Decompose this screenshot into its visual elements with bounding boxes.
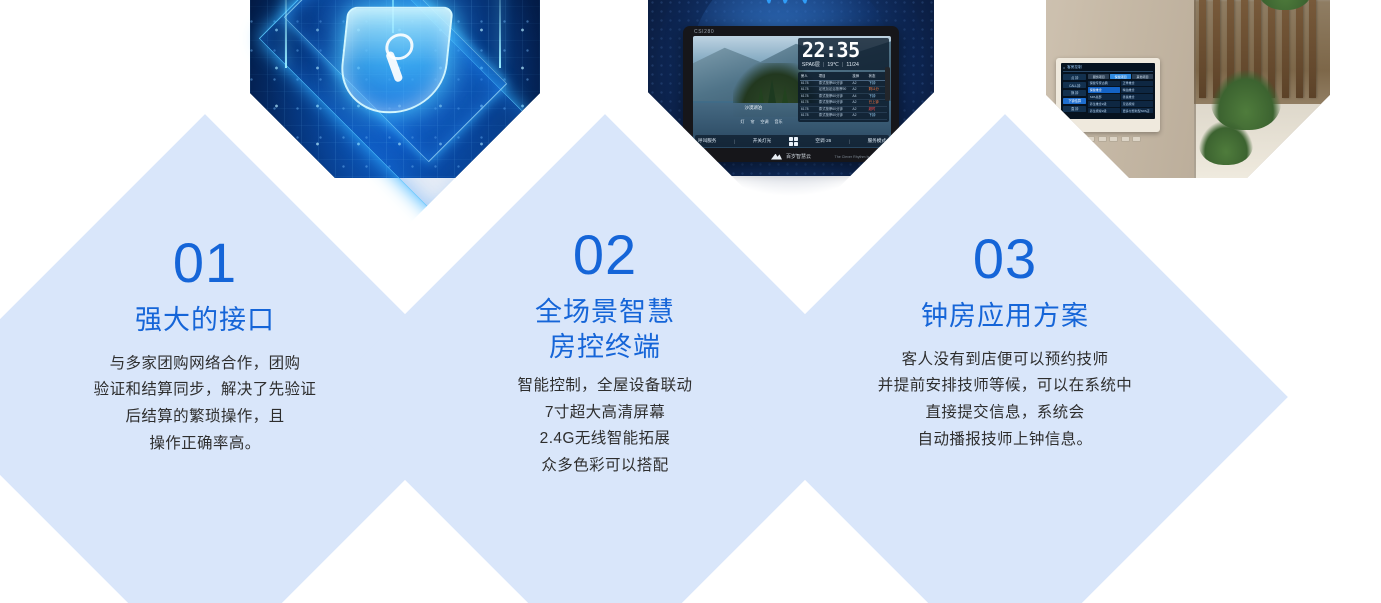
card-description-03: 客人没有到店便可以预约技师 并提前安排技师等候，可以在系统中 直接提交信息，系统… [878,347,1132,454]
menu-item[interactable]: 香薰推拿 [1121,94,1153,100]
panel-tab-service[interactable]: 服务项目 [1088,74,1109,79]
toolbar-divider-icon: | [849,139,850,144]
cell-tech: A2 [852,113,866,118]
feature-diamond-showcase: 01 强大的接口 与多家团购网络合作，团购 验证和结算同步，解决了先验证 后结算… [0,0,1381,603]
clock-temperature: 19℃ [827,62,839,68]
clock-location: SPA6层 [802,61,820,68]
menu-item-selected[interactable]: 保健推拿 [1088,87,1120,93]
tablet-scene: CSI280 沙漠湖泊 灯 帘 空调 音乐 [648,0,934,176]
card-title-03: 钟房应用方案 [921,299,1089,334]
wall-panel-title: ⌂ 客房控制 [1063,65,1153,72]
card-desc-line: 2.4G无线智能拓展 [518,426,693,453]
menu-item[interactable]: SPA总部 [1088,94,1120,100]
cell-status: 下钟 [869,81,886,86]
clock-widget: 22:35 SPA6层 | 19℃ | 11/24 [798,38,889,70]
card-desc-line: 直接提交信息，系统会 [878,400,1132,427]
service-status-table[interactable]: 房人 项目 技师 状态 6178 泰式按摩60分钟 A2 下钟 [798,72,889,122]
menu-item[interactable]: 养生推拿2级 [1088,101,1120,107]
card-desc-line: 智能控制，全屋设备联动 [518,373,693,400]
cell-status: 已上钟 [869,100,886,105]
cell-status: 超时 [869,107,886,112]
menu-item[interactable]: 精油推拿 [1121,87,1153,93]
shield-scene: 蓝色科技电路板与发光盾牌锁图形 [250,0,540,178]
card-number-01: 01 [173,235,237,291]
hardware-button[interactable] [1086,136,1095,142]
menu-item[interactable]: 养生按摩2级 [1088,108,1120,114]
side-btn-zhizhong[interactable]: 直 钟 [1063,105,1086,111]
col-tech: 技师 [852,74,866,79]
card-desc-line: 验证和结算同步，解决了先验证 [94,377,317,404]
apps-grid-icon[interactable] [789,137,798,146]
panel-tab-other[interactable]: 其他项目 [1132,74,1153,79]
cell-room: 6178 [801,87,817,92]
wall-panel-body: 点 钟 CALL钟 换 钟 下钟结算 直 钟 服务项目 保健项目 其他项目 [1063,72,1153,117]
tab-ac[interactable]: 空调·26 [815,138,831,144]
hardware-button[interactable] [1132,136,1141,142]
room-scene: ⌂ 客房控制 点 钟 CALL钟 换 钟 下钟结算 直 钟 [1046,0,1330,178]
wall-panel-menu-grid[interactable]: 保健专家古典 正骨推拿 保健推拿 精油推拿 SPA总部 香薰推拿 养生推拿2级 … [1088,81,1153,114]
card-desc-line: 自动播报技师上钟信息。 [878,427,1132,454]
cell-tech: A4 [852,94,866,99]
clock-date: 11/24 [846,62,859,68]
cell-item: 泰式按摩60分钟 [819,107,851,112]
side-btn-huanzhong[interactable]: 换 钟 [1063,90,1086,96]
side-btn-dianzhong[interactable]: 点 钟 [1063,74,1086,80]
room-control-tablet[interactable]: CSI280 沙漠湖泊 灯 帘 空调 音乐 [683,26,899,162]
side-btn-settle[interactable]: 下钟结算 [1063,98,1086,104]
toolbar-divider-icon: | [734,139,735,144]
cell-item: 泰式按摩60分钟 [819,113,851,118]
card-desc-line: 并提前安排技师等候，可以在系统中 [878,373,1132,400]
hardware-button[interactable] [1098,136,1107,142]
quick-icon-light[interactable]: 灯 [741,119,745,125]
cell-status: 剩11分 [869,87,886,92]
menu-item[interactable]: 正骨推拿 [1121,81,1153,87]
scene-label: 沙漠湖泊 [744,105,762,111]
quick-icon-curtain[interactable]: 帘 [751,119,755,125]
cell-room: 6178 [801,94,817,99]
tablet-footer: 百岁智慧云 The Clever Rhythm Is The Fulness [683,153,899,160]
card-title-line: 全场景智慧 [535,295,675,330]
card-title-02: 全场景智慧 房控终端 [535,295,675,364]
tablet-side-button[interactable] [885,67,890,101]
wall-panel-hardware-buttons[interactable] [1059,136,1157,142]
card-desc-line: 众多色彩可以搭配 [518,453,693,480]
quick-icon-music[interactable]: 音乐 [775,119,783,125]
wall-panel-screen[interactable]: ⌂ 客房控制 点 钟 CALL钟 换 钟 下钟结算 直 钟 [1061,63,1155,119]
cell-tech: A2 [852,81,866,86]
hardware-button[interactable] [1075,136,1084,142]
cell-item: 足底加足浴按摩90 [819,87,851,92]
meta-divider-icon: | [842,62,843,68]
brand-logo-icon [771,154,782,160]
card-description-02: 智能控制，全屋设备联动 7寸超大高清屏幕 2.4G无线智能拓展 众多色彩可以搭配 [518,373,693,480]
brand-tagline: The Clever Rhythm Is The Fulness [835,154,890,158]
wall-control-panel[interactable]: ⌂ 客房控制 点 钟 CALL钟 换 钟 下钟结算 直 钟 [1056,58,1160,132]
table-row[interactable]: 6178 泰式按摩60分钟 A2 下钟 [800,113,887,120]
col-item: 项目 [819,74,851,79]
clock-meta: SPA6层 | 19℃ | 11/24 [802,61,886,68]
card-desc-line: 后结算的繁琐操作，且 [94,404,317,431]
cell-status: 下钟 [869,94,886,99]
wall-panel-main: 服务项目 保健项目 其他项目 保健专家古典 正骨推拿 保健推拿 精油推拿 SPA… [1088,74,1153,117]
card-number-03: 03 [973,231,1037,287]
card-description-01: 与多家团购网络合作，团购 验证和结算同步，解决了先验证 后结算的繁琐操作，且 操… [94,351,317,458]
scene-quick-icons[interactable]: 灯 帘 空调 音乐 [741,119,783,125]
cell-tech: A2 [852,107,866,112]
cell-room: 6178 [801,81,817,86]
cell-item: 泰式按摩60分钟 [819,94,851,99]
card-desc-line: 操作正确率高。 [94,431,317,458]
hardware-button[interactable] [1121,136,1130,142]
wall-corner-edge [1194,0,1196,178]
cell-room: 6178 [801,100,817,105]
cell-item: 泰式按摩60分钟 [819,81,851,86]
meta-divider-icon: | [823,62,824,68]
card-desc-line: 与多家团购网络合作，团购 [94,351,317,378]
tablet-screen[interactable]: 沙漠湖泊 灯 帘 空调 音乐 22:35 SPA6层 | [693,36,891,148]
tablet-info-panel: 22:35 SPA6层 | 19℃ | 11/24 房人 [798,38,889,128]
hardware-button[interactable] [1109,136,1118,142]
menu-item[interactable]: 保健专家古典 [1088,81,1120,87]
card-desc-line: 7寸超大高清屏幕 [518,400,693,427]
wall-panel-tabs[interactable]: 服务项目 保健项目 其他项目 [1088,74,1153,79]
tablet-brand-label: CSI280 [694,29,714,35]
heartbeat-wave-icon [731,0,851,12]
tab-lights[interactable]: 开关灯光 [753,138,771,144]
light-beam-icon [285,0,287,68]
tab-service-mode[interactable]: 服务模式 [868,138,886,144]
plant-icon [1199,121,1253,165]
panel-logo-icon: ⌂ [1063,66,1065,70]
menu-item[interactable]: 更多付费新型SPA店 [1121,108,1153,114]
light-beam-icon [499,0,501,68]
col-room: 房人 [801,74,817,79]
menu-item[interactable]: 足浴按摩 [1121,101,1153,107]
cell-tech: A2 [852,100,866,105]
tab-call-service[interactable]: 呼叫服务 [698,138,716,144]
clock-time: 22:35 [802,40,886,60]
card-title-01: 强大的接口 [135,303,275,338]
cell-tech: A2 [852,87,866,92]
tablet-bottom-toolbar[interactable]: 呼叫服务 | 开关灯光 空调·26 | 服务模式 [695,135,889,147]
cell-room: 6178 [801,113,817,118]
feature-card-03-content: 03 钟房应用方案 客人没有到店便可以预约技师 并提前安排技师等候，可以在系统中… [805,197,1205,597]
panel-title-text: 客房控制 [1067,65,1081,70]
cell-room: 6178 [801,107,817,112]
cell-status: 下钟 [869,113,886,118]
card-number-02: 02 [573,227,637,283]
quick-icon-ac[interactable]: 空调 [761,119,769,125]
panel-tab-health[interactable]: 保健项目 [1110,74,1131,79]
brand-name: 百岁智慧云 [786,153,811,160]
side-btn-callzhong[interactable]: CALL钟 [1063,82,1086,88]
cell-item: 泰式按摩60分钟 [819,100,851,105]
col-status: 状态 [869,74,886,79]
card-desc-line: 客人没有到店便可以预约技师 [878,347,1132,374]
card-title-line: 房控终端 [535,330,675,365]
wall-panel-side-buttons[interactable]: 点 钟 CALL钟 换 钟 下钟结算 直 钟 [1063,74,1086,117]
